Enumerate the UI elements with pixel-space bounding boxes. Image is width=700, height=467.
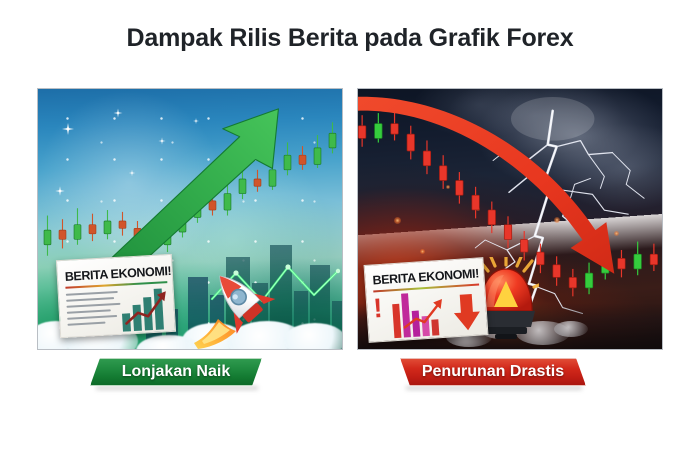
down-arrow-icon <box>451 291 484 333</box>
warning-exclamation-icon: ! <box>373 296 384 322</box>
newspaper-text-line <box>66 291 118 296</box>
newspaper-text-line <box>67 309 111 313</box>
rocket-icon <box>192 259 288 350</box>
badge-shadow <box>406 386 582 390</box>
caption-label-bullish: Lonjakan Naik <box>122 363 230 381</box>
newspaper-text-line <box>67 315 117 320</box>
panel-bearish[interactable]: BERITA EKONOMI! ! <box>357 88 663 350</box>
newspaper-text-line <box>66 297 114 302</box>
badge-shadow <box>96 386 258 390</box>
page-title: Dampak Rilis Berita pada Grafik Forex <box>0 24 700 53</box>
panel-bullish[interactable]: BERITA EKONOMI! <box>37 88 343 350</box>
caption-badge-bullish[interactable]: Lonjakan Naik <box>90 358 262 386</box>
caption-badge-bearish[interactable]: Penurunan Drastis <box>400 358 586 386</box>
newspaper-card[interactable]: BERITA EKONOMI! <box>56 254 176 338</box>
caption-label-bearish: Penurunan Drastis <box>422 363 564 381</box>
newspaper-bar-chart <box>119 285 173 333</box>
newspaper-text-line <box>66 303 120 308</box>
newspaper-text-line <box>67 322 105 326</box>
newspaper-card[interactable]: BERITA EKONOMI! ! <box>364 257 489 343</box>
smoke-puff <box>554 321 588 337</box>
poster-root: Dampak Rilis Berita pada Grafik Forex <box>0 0 700 467</box>
newspaper-bar-chart <box>391 291 450 341</box>
